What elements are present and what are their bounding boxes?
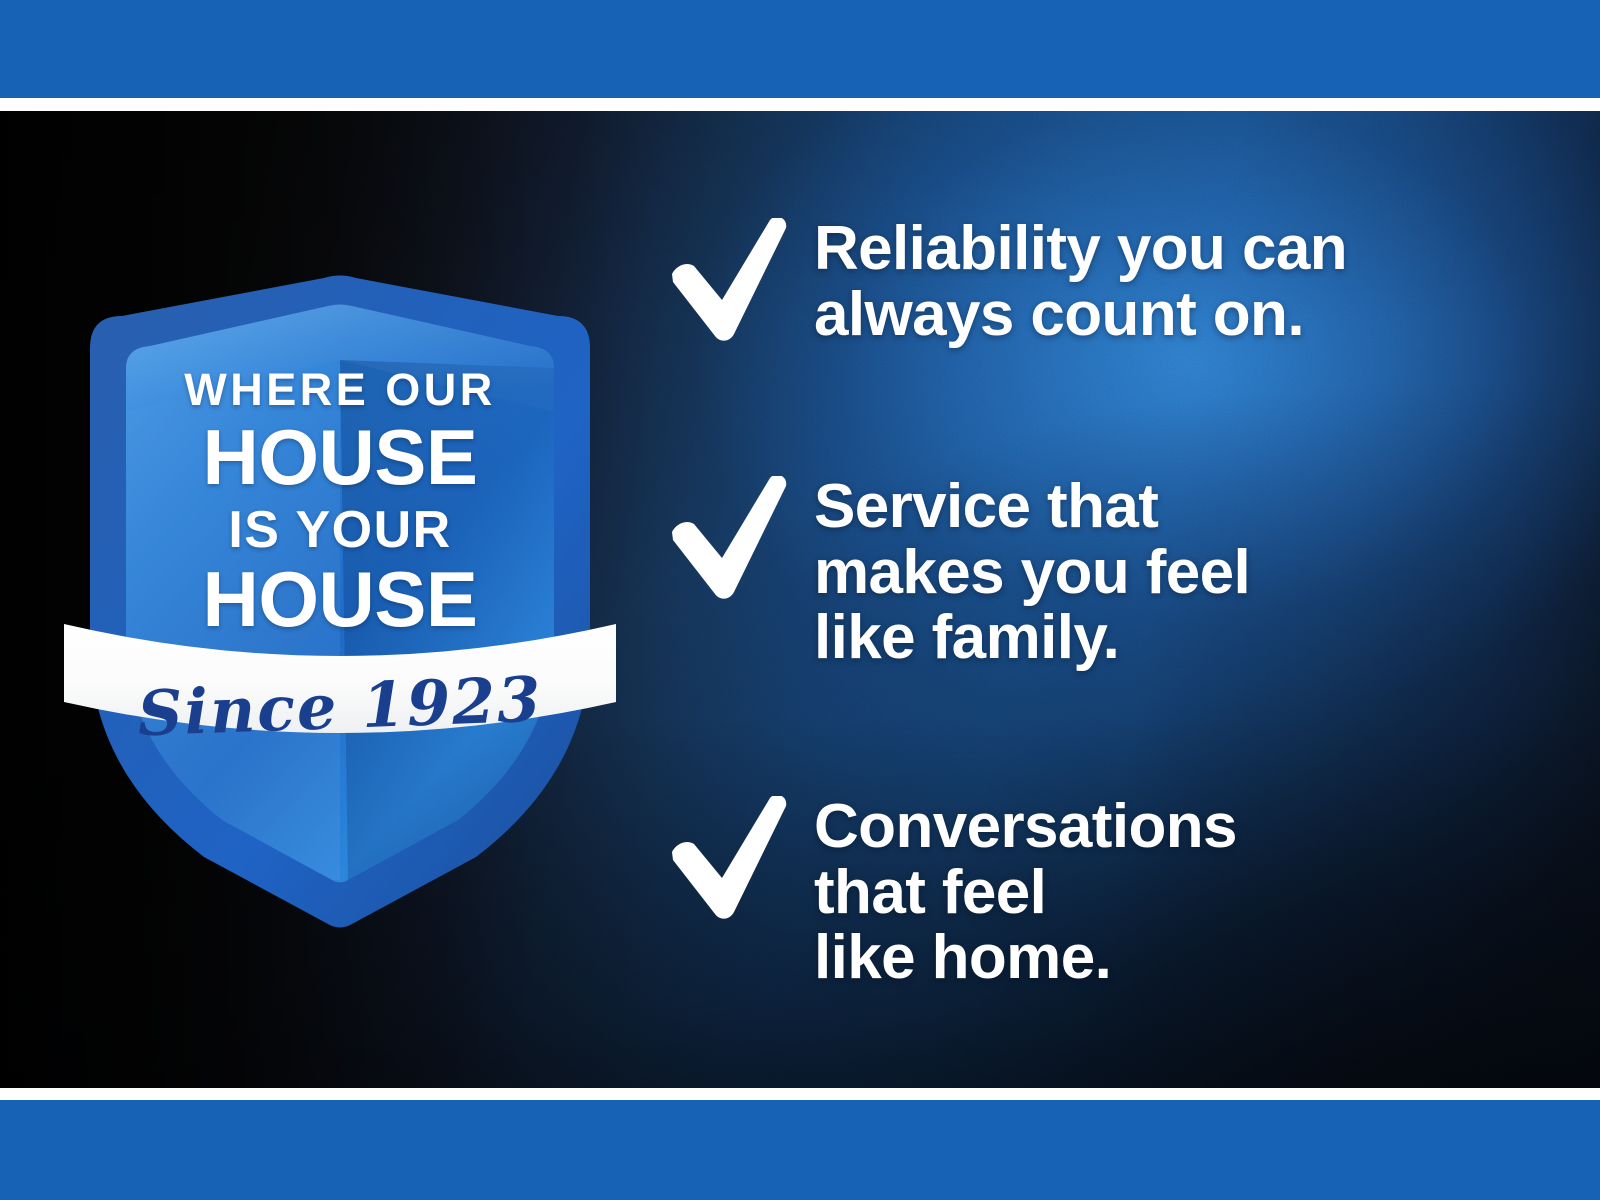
bottom-brand-band [0, 1100, 1600, 1200]
checkmark-icon [664, 218, 796, 342]
benefit-text-2: Service that makes you feel like family. [814, 470, 1250, 671]
heritage-shield-badge: WHERE OUR HOUSE IS YOUR HOUSE Since 1923 [60, 272, 620, 932]
benefit-item-1: Reliability you can always count on. [664, 212, 1347, 347]
top-brand-band [0, 0, 1600, 98]
checkmark-icon [664, 476, 796, 600]
benefit-item-3: Conversations that feel like home. [664, 790, 1237, 991]
benefit-item-2: Service that makes you feel like family. [664, 470, 1250, 671]
benefit-text-3: Conversations that feel like home. [814, 790, 1237, 991]
benefit-text-1: Reliability you can always count on. [814, 212, 1347, 347]
promo-graphic: WHERE OUR HOUSE IS YOUR HOUSE Since 1923… [0, 0, 1600, 1200]
shield-graphic [60, 272, 620, 932]
checkmark-icon [664, 796, 796, 920]
